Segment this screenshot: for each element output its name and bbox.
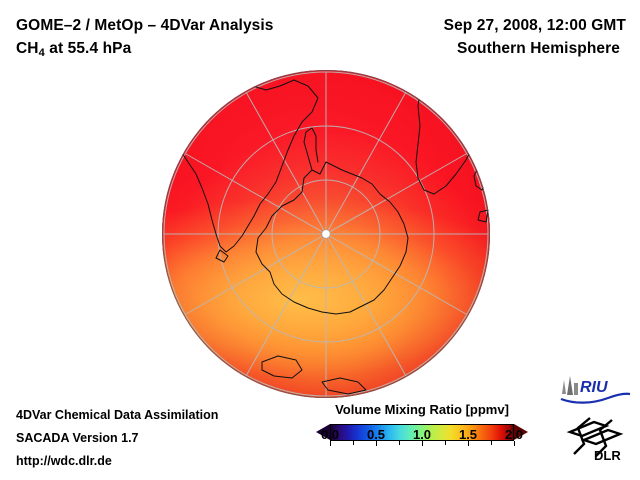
colorbar: Volume Mixing Ratio [ppmv] 0.00.51.01.52… [316, 402, 528, 444]
credit-line-version: SACADA Version 1.7 [16, 427, 218, 450]
riu-logo-mark: RIU [558, 374, 632, 404]
dlr-logo: DLR [560, 414, 632, 462]
south-pole-marker [322, 230, 330, 238]
colorbar-tick-label: 1.5 [459, 427, 477, 442]
credit-line-method: 4DVar Chemical Data Assimilation [16, 404, 218, 427]
page-title: GOME–2 / MetOp – 4DVar Analysis [16, 14, 376, 37]
footer-credits: 4DVar Chemical Data Assimilation SACADA … [16, 404, 218, 473]
globe-map [162, 70, 492, 400]
region-label: Southern Hemisphere [326, 37, 626, 60]
colorbar-tick-labels: 0.00.51.01.52.0 [316, 427, 528, 443]
level-label: at 55.4 hPa [45, 40, 132, 57]
colorbar-tick-label: 2.0 [505, 427, 523, 442]
riu-logo: RIU [558, 374, 632, 404]
dlr-wordmark: DLR [594, 448, 621, 462]
subtitle-species-level: CH4 at 55.4 hPa [16, 37, 376, 62]
coastlines [176, 76, 488, 394]
timestamp-label: Sep 27, 2008, 12:00 GMT [326, 14, 626, 37]
globe-overlays [162, 70, 490, 398]
colorbar-tick-label: 1.0 [413, 427, 431, 442]
riu-wordmark: RIU [580, 379, 608, 396]
colorbar-tick-label: 0.0 [321, 427, 339, 442]
credit-line-url: http://wdc.dlr.de [16, 450, 218, 473]
species-subscript: 4 [39, 47, 45, 59]
dlr-logo-mark: DLR [560, 414, 632, 462]
header-left: GOME–2 / MetOp – 4DVar Analysis CH4 at 5… [16, 14, 376, 62]
colorbar-tick-label: 0.5 [367, 427, 385, 442]
riu-towers-icon [562, 376, 578, 395]
colorbar-title: Volume Mixing Ratio [ppmv] [316, 402, 528, 417]
figure-canvas: GOME–2 / MetOp – 4DVar Analysis CH4 at 5… [0, 0, 640, 480]
species-label: CH [16, 40, 39, 57]
globe-disc [162, 70, 490, 398]
header-right: Sep 27, 2008, 12:00 GMT Southern Hemisph… [326, 14, 626, 60]
